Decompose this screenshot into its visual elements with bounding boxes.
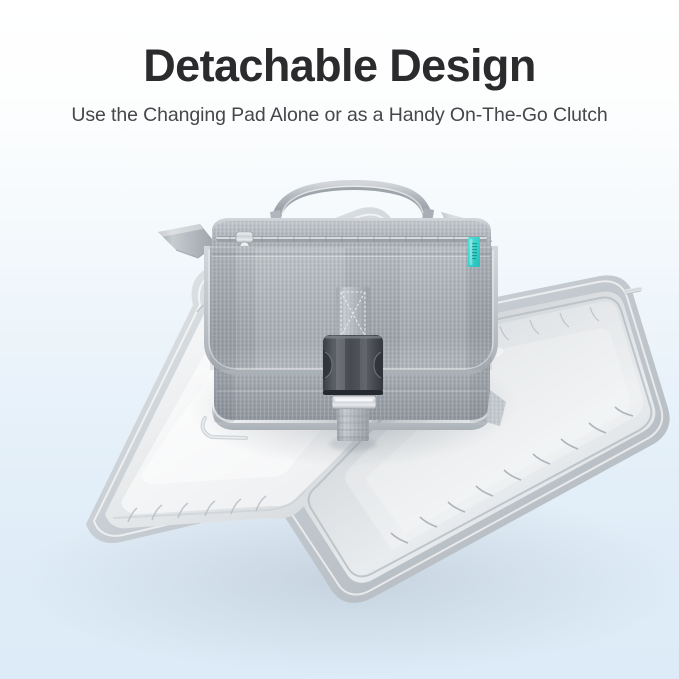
brand-tag	[468, 237, 480, 267]
product-scene	[0, 150, 679, 679]
side-release-buckle	[323, 335, 383, 395]
page-title: Detachable Design	[0, 0, 679, 91]
product-feature-image: Detachable Design Use the Changing Pad A…	[0, 0, 679, 679]
page-subtitle: Use the Changing Pad Alone or as a Handy…	[0, 91, 679, 127]
text-block: Detachable Design Use the Changing Pad A…	[0, 0, 679, 127]
